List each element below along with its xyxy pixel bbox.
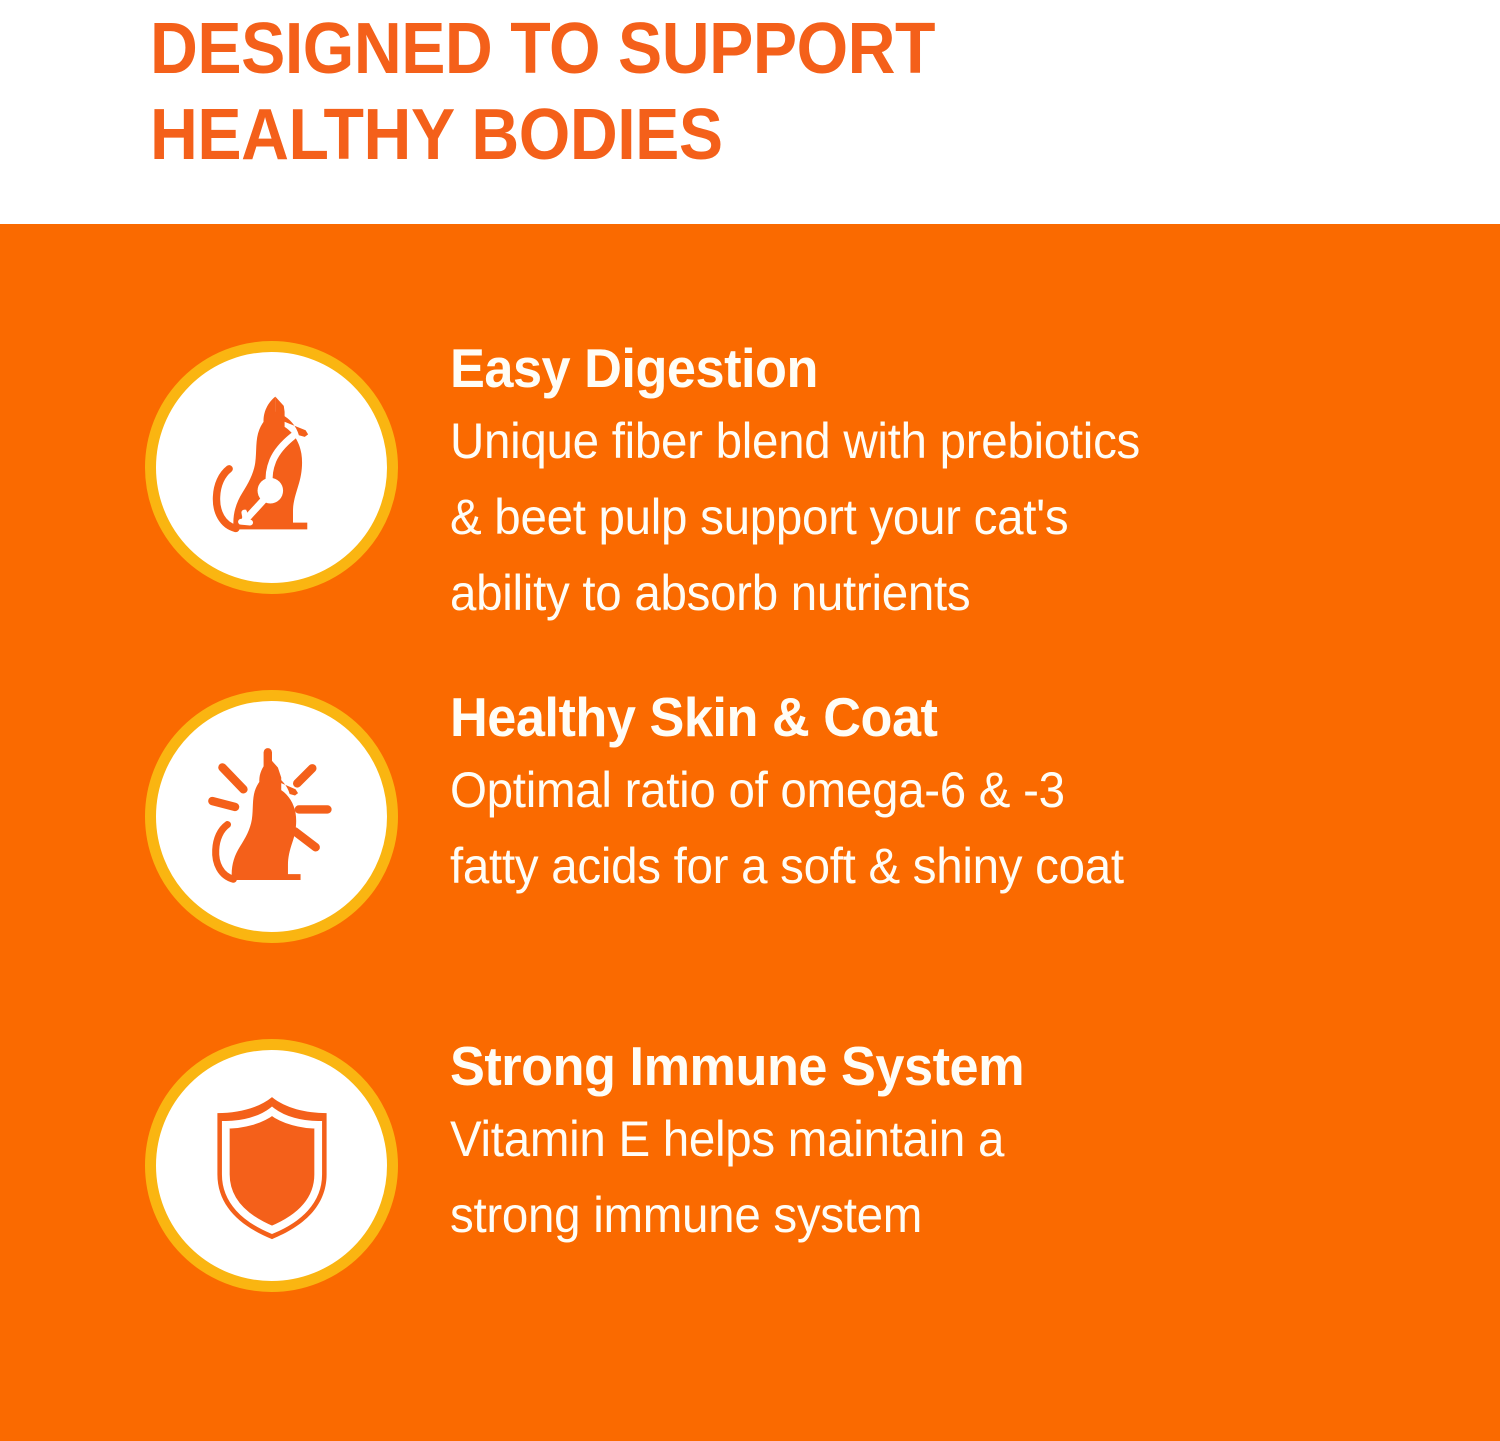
page-title: DESIGNED TO SUPPORT HEALTHY BODIES: [150, 6, 1392, 178]
feature-description: Unique fiber blend with prebiotics & bee…: [450, 403, 1140, 631]
feature-icon-medallion: [145, 341, 398, 594]
feature-row: Strong Immune System Vitamin E helps mai…: [0, 1035, 1500, 1384]
feature-title: Healthy Skin & Coat: [450, 686, 1124, 748]
header-band: DESIGNED TO SUPPORT HEALTHY BODIES: [0, 0, 1500, 224]
feature-icon-medallion: [145, 690, 398, 943]
feature-text: Easy Digestion Unique fiber blend with p…: [450, 337, 1176, 631]
cat-digestion-icon: [188, 384, 356, 552]
cat-shine-icon: [188, 733, 356, 901]
feature-text: Healthy Skin & Coat Optimal ratio of ome…: [450, 686, 1159, 904]
feature-icon-medallion: [145, 1039, 398, 1292]
shield-icon: [188, 1082, 356, 1250]
feature-row: Easy Digestion Unique fiber blend with p…: [0, 337, 1500, 686]
feature-panel: Easy Digestion Unique fiber blend with p…: [0, 224, 1500, 1441]
feature-description: Optimal ratio of omega-6 & -3 fatty acid…: [450, 752, 1124, 904]
feature-text: Strong Immune System Vitamin E helps mai…: [450, 1035, 1054, 1253]
feature-title: Easy Digestion: [450, 337, 1140, 399]
feature-description: Vitamin E helps maintain a strong immune…: [450, 1101, 1024, 1253]
feature-title: Strong Immune System: [450, 1035, 1024, 1097]
feature-row: Healthy Skin & Coat Optimal ratio of ome…: [0, 686, 1500, 1035]
